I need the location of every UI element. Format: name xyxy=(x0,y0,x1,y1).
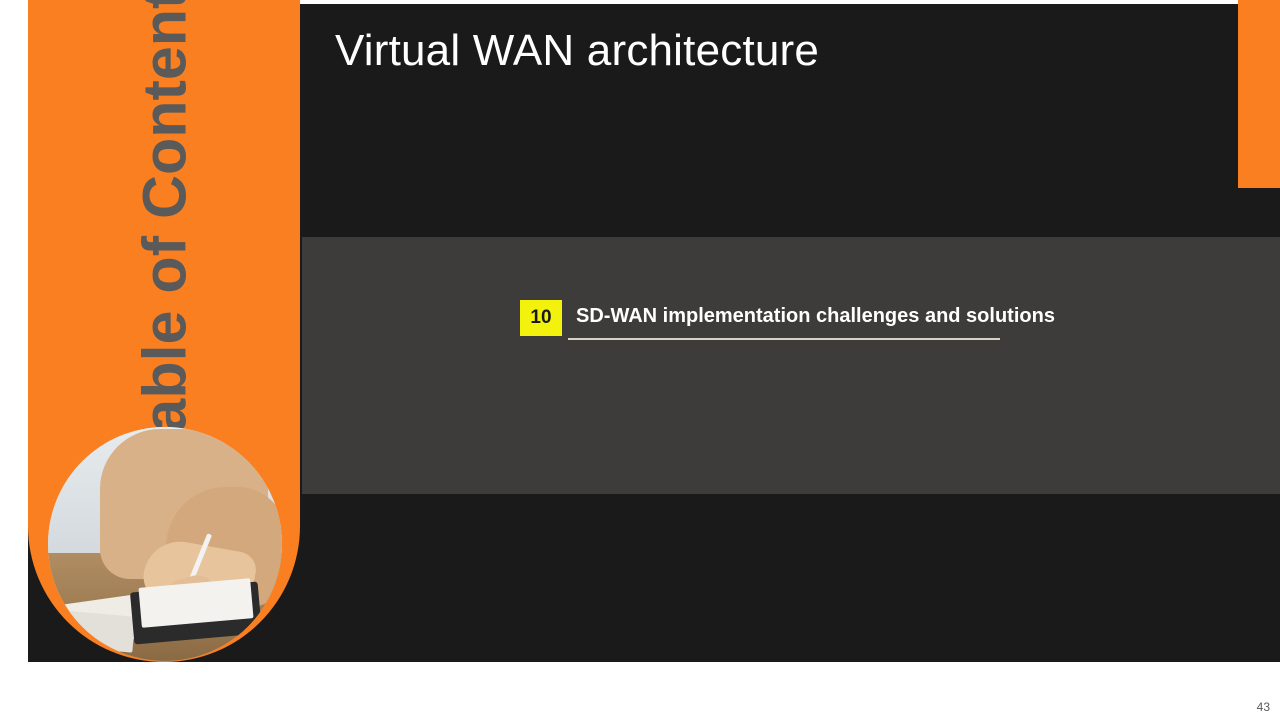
sidebar-photo xyxy=(48,427,282,661)
list-item[interactable]: 10 SD-WAN implementation challenges and … xyxy=(520,300,1055,336)
page-title: Virtual WAN architecture xyxy=(335,26,819,76)
toc-entry-label: SD-WAN implementation challenges and sol… xyxy=(576,305,1055,331)
slide-left-border xyxy=(0,0,28,720)
photo-papers-secondary xyxy=(48,609,135,652)
sidebar-title-text: Table of Contents xyxy=(132,0,196,465)
slide-bottom-border xyxy=(0,662,1280,720)
sidebar-title: Table of Contents xyxy=(28,0,300,420)
toc-entry-number: 10 xyxy=(520,300,562,336)
toc-entry-underline xyxy=(568,338,1000,340)
slide-page-number: 43 xyxy=(1257,700,1270,714)
presentation-slide: Table of Contents Virtual WAN architectu… xyxy=(0,0,1280,720)
orange-accent-tab xyxy=(1238,0,1280,188)
content-band xyxy=(302,237,1280,494)
